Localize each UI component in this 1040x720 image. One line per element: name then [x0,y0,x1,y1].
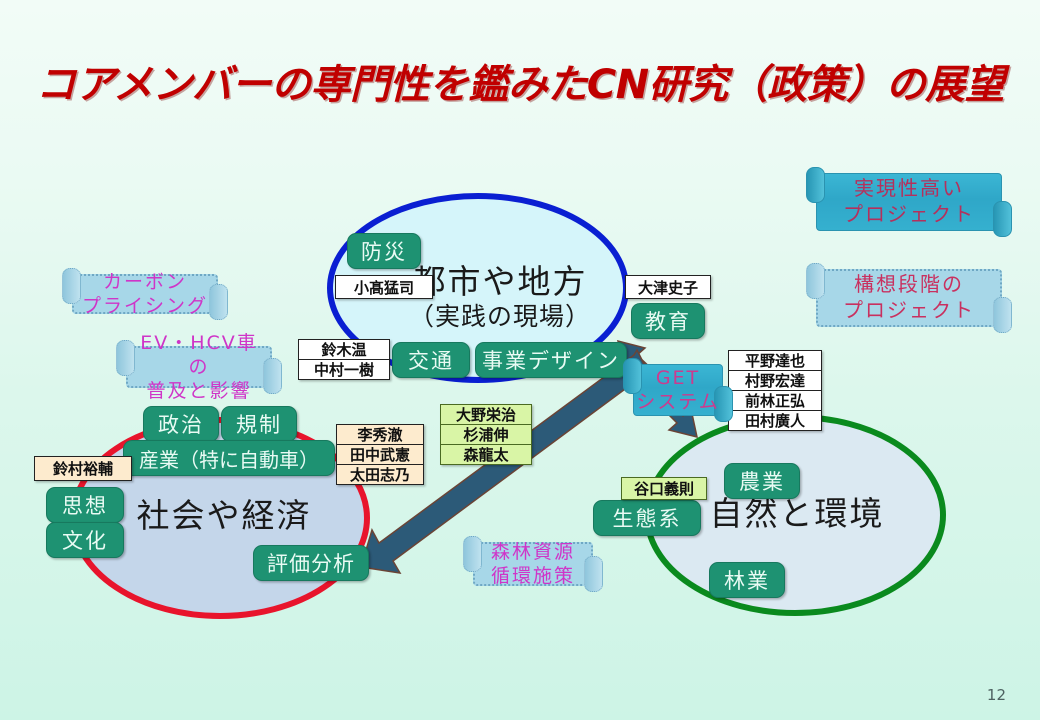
pill-shisou-label: 思想 [62,490,108,520]
project-ev-hcv[interactable]: EV・HCV車の 普及と影響 [116,340,282,394]
pill-ringyou-label: 林業 [724,565,770,595]
scroll-curl-bottom-right [993,201,1012,237]
pill-kyouiku[interactable]: 教育 [631,303,705,339]
namebox-nakamura-row: 中村一樹 [299,360,389,379]
namebox-odaka: 小髙猛司 [335,275,433,299]
pill-jigyou-design-label: 事業デザイン [482,345,620,375]
project-carbon-pricing-label: カーボン プライシング [66,270,224,319]
pill-sangyou[interactable]: 産業（特に自動車） [123,440,335,476]
scroll-curl-top-left [806,167,825,203]
namebox-hirano-row: 平野達也 [729,351,821,371]
namebox-tanaka-row: 田中武憲 [337,445,423,465]
pill-sangyou-label: 産業（特に自動車） [139,444,319,473]
namebox-taniguchi: 谷口義則 [621,477,707,500]
namebox-otsu: 大津史子 [625,275,711,299]
legend-high-feasibility-label: 実現性高い プロジェクト [827,176,991,227]
namebox-murano-row: 村野宏達 [729,371,821,391]
pill-shisou[interactable]: 思想 [46,487,124,523]
namebox-suzuki-nakamura: 鈴木温 中村一樹 [298,339,390,380]
pill-bunka[interactable]: 文化 [46,522,124,558]
pill-kyouiku-label: 教育 [645,306,691,336]
project-get-system-label: GET システム [628,366,727,415]
pill-nougyou-label: 農業 [739,466,785,496]
pill-seitaikei-label: 生態系 [613,503,682,533]
namebox-maebayashi-row: 前林正弘 [729,391,821,411]
pill-bunka-label: 文化 [62,525,108,555]
namebox-sugiura-row: 杉浦伸 [441,425,531,445]
namebox-odaka-row: 小髙猛司 [336,276,432,298]
pill-koutsuu-label: 交通 [408,345,454,375]
slide-canvas: コアメンバーの専門性を鑑みたCN研究（政策）の展望 都市や地方 （実践の現場） … [0,0,1040,720]
namebox-ota-row: 太田志乃 [337,465,423,484]
pill-hyouka-bunseki-label: 評価分析 [267,548,355,578]
pill-kisei[interactable]: 規制 [221,406,297,442]
namebox-ohno-row: 大野栄治 [441,405,531,425]
pill-bousai-label: 防災 [361,236,407,266]
pill-ringyou[interactable]: 林業 [709,562,785,598]
namebox-suzuki-row: 鈴木温 [299,340,389,360]
namebox-suzumura-row: 鈴村裕輔 [35,457,131,480]
scroll-curl-bottom-right [993,297,1012,333]
namebox-lee-tanaka-ota: 李秀澈 田中武憲 太田志乃 [336,424,424,485]
project-forest-resource-label: 森林資源 循環施策 [475,540,591,589]
namebox-get-members: 平野達也 村野宏達 前林正弘 田村廣人 [728,350,822,431]
namebox-mori-row: 森龍太 [441,445,531,464]
pill-jigyou-design[interactable]: 事業デザイン [475,342,627,378]
pill-nougyou[interactable]: 農業 [724,463,800,499]
pill-seiji-label: 政治 [158,409,204,439]
page-number: 12 [987,686,1006,704]
pill-koutsuu[interactable]: 交通 [392,342,470,378]
namebox-taniguchi-row: 谷口義則 [622,478,706,499]
pill-seitaikei[interactable]: 生態系 [593,500,701,536]
pill-seiji[interactable]: 政治 [143,406,219,442]
project-carbon-pricing[interactable]: カーボン プライシング [62,268,228,320]
namebox-otsu-row: 大津史子 [626,276,710,298]
namebox-ohno-sugiura-mori: 大野栄治 杉浦伸 森龍太 [440,404,532,465]
namebox-tamura-row: 田村廣人 [729,411,821,430]
scroll-curl-top-left [806,263,825,299]
legend-concept-stage: 構想段階の プロジェクト [806,263,1012,333]
pill-hyouka-bunseki[interactable]: 評価分析 [253,545,369,581]
pill-bousai[interactable]: 防災 [347,233,421,269]
legend-concept-stage-label: 構想段階の プロジェクト [827,272,991,323]
legend-high-feasibility: 実現性高い プロジェクト [806,167,1012,237]
project-forest-resource[interactable]: 森林資源 循環施策 [463,536,603,592]
namebox-suzumura: 鈴村裕輔 [34,456,132,481]
project-ev-hcv-label: EV・HCV車の 普及と影響 [116,331,282,404]
pill-kisei-label: 規制 [236,409,282,439]
namebox-lee-row: 李秀澈 [337,425,423,445]
project-get-system[interactable]: GET システム [623,358,733,422]
